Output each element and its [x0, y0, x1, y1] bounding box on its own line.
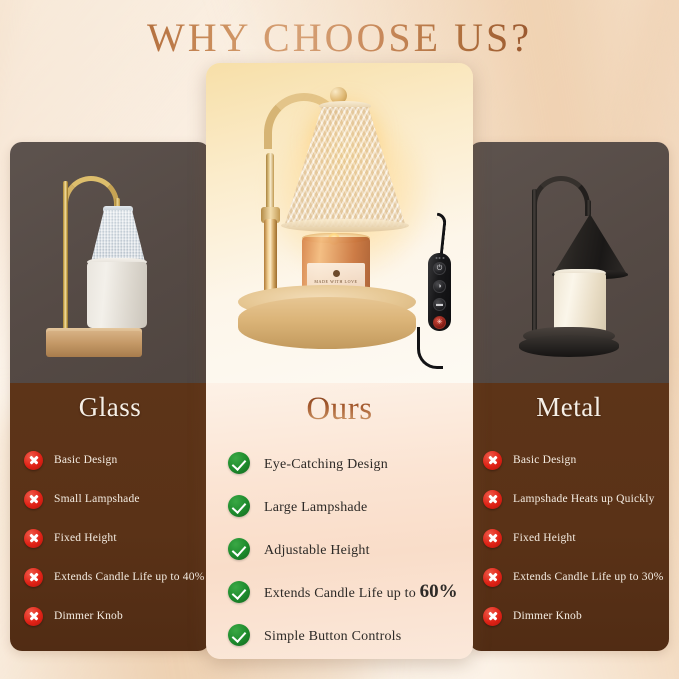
- feature-row: Extends Candle Life up to 60%: [228, 571, 473, 613]
- lampshade-lip: [281, 219, 409, 232]
- cross-icon: [24, 490, 43, 509]
- feature-row: Simple Button Controls: [228, 614, 473, 656]
- controller-indicator-dots: [435, 257, 444, 259]
- cross-icon: [24, 568, 43, 587]
- lamp-base-wood: [238, 297, 416, 349]
- feature-row: Fixed Height: [24, 520, 210, 556]
- feature-label: Extends Candle Life up to 40%: [54, 571, 204, 583]
- feature-label: Large Lampshade: [264, 495, 367, 517]
- feature-panel-ours: Ours Eye-Catching Design Large Lampshade…: [206, 383, 473, 659]
- check-icon: [228, 624, 250, 646]
- feature-list-metal: Basic Design Lampshade Heats up Quickly …: [469, 442, 669, 634]
- feature-label: Extends Candle Life up to 30%: [513, 571, 663, 583]
- metal-lamp-illustration: [469, 142, 669, 383]
- feature-row: Fixed Height: [483, 520, 669, 556]
- feature-list-glass: Basic Design Small Lampshade Fixed Heigh…: [10, 442, 210, 634]
- feature-row: Basic Design: [24, 442, 210, 478]
- candle-label-seal: [333, 270, 340, 277]
- feature-row: Eye-Catching Design: [228, 442, 473, 484]
- feature-panel-glass: Glass Basic Design Small Lampshade Fixed…: [10, 383, 210, 651]
- cross-icon: [24, 451, 43, 470]
- cross-icon: [24, 529, 43, 548]
- check-icon: [228, 452, 250, 474]
- lamp-base-metal: [519, 335, 619, 357]
- comparison-column-glass: Glass Basic Design Small Lampshade Fixed…: [10, 142, 210, 651]
- feature-label: Dimmer Knob: [54, 610, 123, 622]
- column-heading-metal: Metal: [469, 392, 669, 423]
- feature-label: Lampshade Heats up Quickly: [513, 493, 655, 505]
- feature-row: Basic Design: [483, 442, 669, 478]
- column-heading-glass: Glass: [10, 392, 210, 423]
- feature-row: Extends Candle Life up to 30%: [483, 559, 669, 595]
- feature-row: Small Lampshade: [24, 481, 210, 517]
- feature-label: Simple Button Controls: [264, 624, 401, 646]
- brightness-down-button[interactable]: ▬: [433, 298, 446, 311]
- feature-label: Fixed Height: [54, 532, 117, 544]
- feature-list-ours: Eye-Catching Design Large Lampshade Adju…: [206, 442, 473, 656]
- feature-row: Adjustable Height: [228, 528, 473, 570]
- cross-icon: [483, 490, 502, 509]
- brightness-up-button[interactable]: ✳: [433, 316, 446, 329]
- feature-label: Adjustable Height: [264, 538, 370, 560]
- feature-label: Small Lampshade: [54, 493, 140, 505]
- cross-icon: [483, 451, 502, 470]
- lamp-drop-rod: [586, 200, 591, 216]
- candle-jar: [87, 262, 147, 328]
- remote-controller[interactable]: ⏻ ◑ ▬ ✳: [428, 253, 451, 331]
- cross-icon: [483, 568, 502, 587]
- feature-row: Lampshade Heats up Quickly: [483, 481, 669, 517]
- comparison-column-ours: MADE WITH LOVE A PERFECT GIFT ⏻ ◑ ▬ ✳ Ou…: [206, 63, 473, 659]
- page-title: WHY CHOOSE US?: [0, 14, 679, 61]
- feature-panel-metal: Metal Basic Design Lampshade Heats up Qu…: [469, 383, 669, 651]
- cross-icon: [483, 607, 502, 626]
- feature-label: Basic Design: [54, 454, 117, 466]
- candle-jar: [554, 273, 606, 335]
- cross-icon: [483, 529, 502, 548]
- glass-lamp-illustration: [10, 142, 210, 383]
- lamp-post: [532, 189, 537, 339]
- feature-label: Fixed Height: [513, 532, 576, 544]
- feature-row: Dimmer Knob: [24, 598, 210, 634]
- feature-label: Eye-Catching Design: [264, 452, 388, 474]
- feature-row: Large Lampshade: [228, 485, 473, 527]
- lamp-base-wood: [46, 331, 142, 357]
- lampshade-metal: [552, 214, 628, 276]
- power-cord: [433, 213, 447, 256]
- lamp-post: [63, 181, 68, 333]
- column-heading-ours: Ours: [206, 391, 473, 428]
- power-button[interactable]: ⏻: [433, 262, 446, 275]
- power-cord: [417, 327, 443, 369]
- check-icon: [228, 495, 250, 517]
- timer-button[interactable]: ◑: [433, 280, 446, 293]
- product-photo-metal: [469, 142, 669, 383]
- product-photo-ours: MADE WITH LOVE A PERFECT GIFT ⏻ ◑ ▬ ✳: [206, 63, 473, 383]
- check-icon: [228, 581, 250, 603]
- check-icon: [228, 538, 250, 560]
- cross-icon: [24, 607, 43, 626]
- feature-label: Basic Design: [513, 454, 576, 466]
- feature-row: Dimmer Knob: [483, 598, 669, 634]
- product-photo-glass: [10, 142, 210, 383]
- lamp-stem: [266, 153, 274, 211]
- hero-lamp-illustration: MADE WITH LOVE A PERFECT GIFT ⏻ ◑ ▬ ✳: [206, 63, 473, 383]
- comparison-column-metal: Metal Basic Design Lampshade Heats up Qu…: [469, 142, 669, 651]
- feature-row: Extends Candle Life up to 40%: [24, 559, 210, 595]
- candle-label-line1: MADE WITH LOVE: [314, 279, 357, 284]
- feature-label: Extends Candle Life up to 60%: [264, 581, 458, 603]
- lamp-arch: [532, 176, 590, 216]
- feature-label: Dimmer Knob: [513, 610, 582, 622]
